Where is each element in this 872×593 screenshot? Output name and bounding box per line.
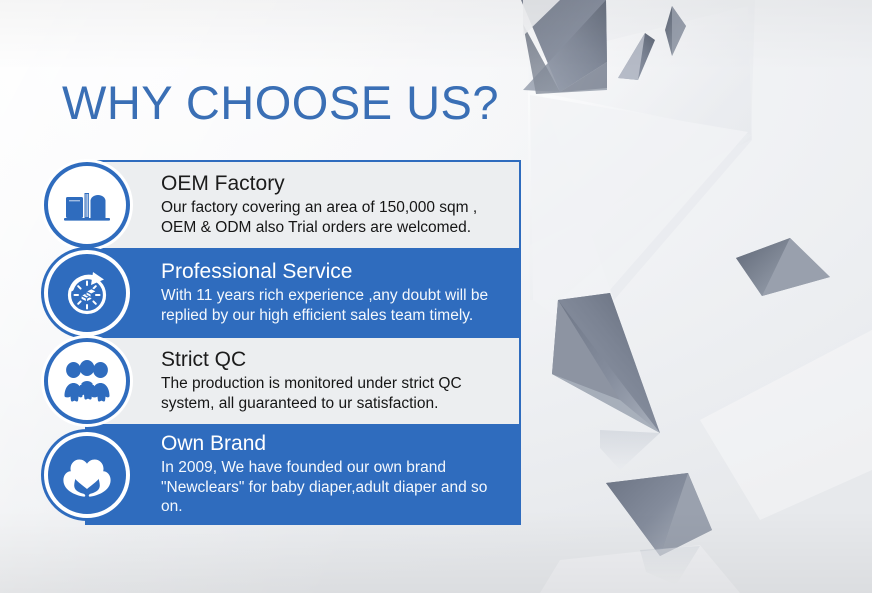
feature-text: OEM Factory Our factory covering an area…	[87, 166, 487, 243]
page-title: WHY CHOOSE US?	[62, 78, 499, 127]
feature-row-professional-service[interactable]: Professional Service With 11 years rich …	[85, 248, 521, 336]
feature-row-oem-factory[interactable]: OEM Factory Our factory covering an area…	[85, 160, 521, 248]
feature-text: Own Brand In 2009, We have founded our o…	[87, 426, 519, 523]
feature-list: OEM Factory Our factory covering an area…	[85, 160, 521, 525]
feature-row-own-brand[interactable]: Own Brand In 2009, We have founded our o…	[85, 424, 521, 525]
fast-shipping-icon	[44, 250, 130, 336]
people-group-icon	[44, 338, 130, 424]
feature-body: In 2009, We have founded our own brand "…	[161, 458, 509, 517]
feature-body: The production is monitored under strict…	[161, 374, 462, 414]
feature-body: With 11 years rich experience ,any doubt…	[161, 286, 488, 326]
feature-title: Professional Service	[161, 260, 488, 285]
feature-text: Professional Service With 11 years rich …	[87, 254, 498, 331]
feature-row-strict-qc[interactable]: Strict QC The production is monitored un…	[85, 336, 521, 424]
heart-in-hands-icon	[44, 432, 130, 518]
poster-canvas: WHY CHOOSE US? OEM Factory Our factory c…	[0, 0, 872, 593]
feature-title: Strict QC	[161, 348, 462, 373]
feature-title: OEM Factory	[161, 172, 477, 197]
feature-body: Our factory covering an area of 150,000 …	[161, 198, 477, 238]
factory-icon	[44, 162, 130, 248]
feature-title: Own Brand	[161, 432, 509, 457]
feature-text: Strict QC The production is monitored un…	[87, 342, 472, 419]
